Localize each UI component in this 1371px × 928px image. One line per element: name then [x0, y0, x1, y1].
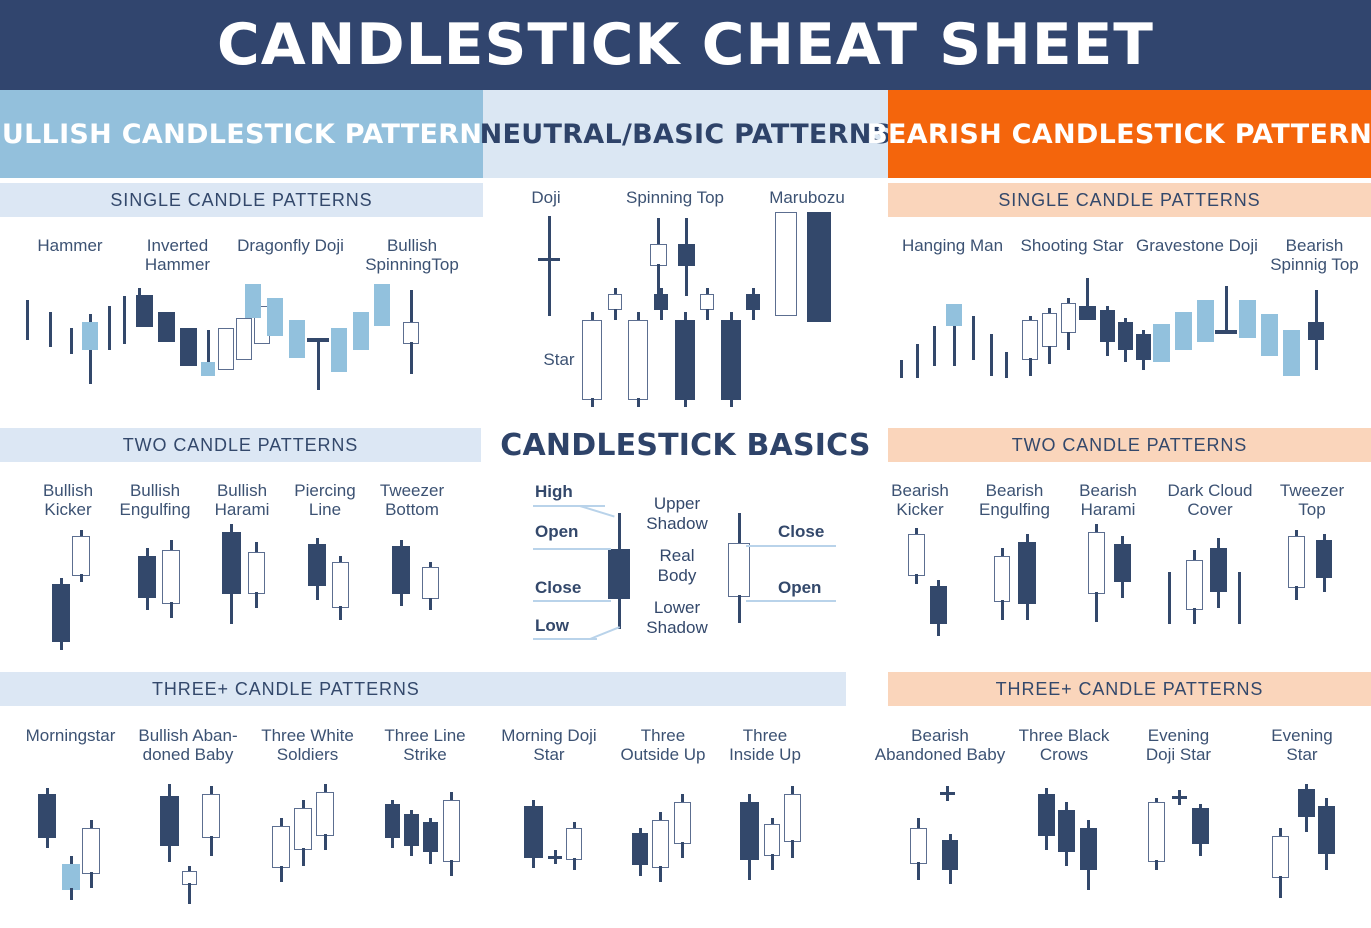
- candle-chart-bearish-spinnig-top: [1308, 290, 1328, 380]
- column-header-bearish-label: BEARISH CANDLESTICK PATTERNS: [867, 119, 1371, 150]
- pattern-label-bullish-kicker: Bullish Kicker: [18, 481, 118, 519]
- pattern-label-star: Star: [528, 350, 590, 369]
- section-band-bullish-single: SINGLE CANDLE PATTERNS: [0, 183, 483, 217]
- basics-rule-open-left: [533, 548, 611, 550]
- candle-chart-bearish-abandoned-baby: [910, 786, 980, 886]
- pattern-label-bullish-spinning-top: Bullish SpinningTop: [352, 236, 472, 274]
- candle-chart-morning-doji-star: [524, 800, 584, 880]
- basics-label-low: Low: [535, 616, 569, 636]
- candle-chart-three-inside-up: [740, 786, 802, 886]
- candle-chart-marubozu: [775, 212, 837, 322]
- basics-rule-low: [533, 638, 597, 640]
- candle-chart-inverted-hammer: [132, 290, 242, 390]
- candle-chart-three-outside-up: [632, 792, 694, 884]
- candle-chart-bullish-abandoned-baby: [160, 784, 222, 904]
- basics-rule-close-right: [746, 545, 836, 547]
- candle-chart-hammer: [22, 290, 132, 390]
- basics-label-high: High: [535, 482, 573, 502]
- pattern-label-bullish-abandoned-baby: Bullish Aban- doned Baby: [128, 726, 248, 764]
- pattern-label-marubozu: Marubozu: [755, 188, 859, 207]
- pattern-label-inverted-hammer: Inverted Hammer: [120, 236, 235, 274]
- candle-chart-doji: [538, 216, 560, 316]
- section-band-label: THREE+ CANDLE PATTERNS: [996, 679, 1264, 700]
- pattern-label-bullish-engulfing: Bullish Engulfing: [105, 481, 205, 519]
- pattern-label-dragonfly-doji: Dragonfly Doji: [228, 236, 353, 255]
- candle-chart-bearish-kicker: [908, 528, 958, 638]
- column-header-bullish-label: BULLISH CANDLESTICK PATTERNS: [0, 119, 502, 150]
- basics-rule-high: [533, 505, 605, 507]
- candle-chart-piercing-line: [308, 530, 360, 640]
- pattern-label-piercing-line: Piercing Line: [275, 481, 375, 519]
- pattern-label-shooting-star: Shooting Star: [1013, 236, 1131, 255]
- basics-candle-bearish: [608, 513, 630, 629]
- basics-label-close-right: Close: [778, 522, 824, 542]
- section-band-bearish-three: THREE+ CANDLE PATTERNS: [888, 672, 1371, 706]
- basics-rule-close-left: [533, 600, 611, 602]
- pattern-label-evening-doji-star: Evening Doji Star: [1126, 726, 1231, 764]
- section-band-label: THREE+ CANDLE PATTERNS: [152, 679, 420, 700]
- candle-chart-morningstar: [38, 788, 98, 898]
- basics-label-open-right: Open: [778, 578, 821, 598]
- basics-label-real-body: Real Body: [637, 546, 717, 586]
- section-band-bearish-two: TWO CANDLE PATTERNS: [888, 428, 1371, 462]
- section-band-label: TWO CANDLE PATTERNS: [123, 435, 358, 456]
- section-band-label: SINGLE CANDLE PATTERNS: [998, 190, 1260, 211]
- pattern-label-three-line-strike: Three Line Strike: [370, 726, 480, 764]
- column-header-bearish: BEARISH CANDLESTICK PATTERNS: [888, 90, 1371, 178]
- pattern-label-dark-cloud-cover: Dark Cloud Cover: [1156, 481, 1264, 519]
- pattern-label-bearish-kicker: Bearish Kicker: [870, 481, 970, 519]
- candle-chart-hanging-man: [900, 290, 1008, 390]
- section-band-bearish-single: SINGLE CANDLE PATTERNS: [888, 183, 1371, 217]
- pattern-label-evening-star: Evening Star: [1252, 726, 1352, 764]
- pattern-label-bearish-spinnig-top: Bearish Spinnig Top: [1262, 236, 1367, 274]
- section-band-label: TWO CANDLE PATTERNS: [1012, 435, 1247, 456]
- pattern-label-tweezer-bottom: Tweezer Bottom: [362, 481, 462, 519]
- candle-chart-bullish-spinning-top: [403, 290, 423, 380]
- candle-chart-bullish-kicker: [52, 530, 102, 640]
- basics-label-lower-shadow: Lower Shadow: [635, 598, 719, 638]
- pattern-label-three-black-crows: Three Black Crows: [1010, 726, 1118, 764]
- candle-chart-three-line-strike: [385, 790, 465, 890]
- basics-label-open-left: Open: [535, 522, 578, 542]
- candle-chart-three-black-crows: [1038, 788, 1100, 896]
- section-band-bullish-two: TWO CANDLE PATTERNS: [0, 428, 481, 462]
- candle-chart-dark-cloud-cover: [1168, 530, 1258, 636]
- pattern-label-hanging-man: Hanging Man: [895, 236, 1010, 255]
- candle-chart-bearish-harami: [1088, 524, 1140, 640]
- pattern-label-bearish-harami: Bearish Harami: [1058, 481, 1158, 519]
- pattern-label-three-white-soldiers: Three White Soldiers: [250, 726, 365, 764]
- candle-chart-shooting-star: [1022, 278, 1134, 388]
- pattern-label-three-inside-up: Three Inside Up: [715, 726, 815, 764]
- pattern-label-bearish-abandoned-baby: Bearish Abandoned Baby: [872, 726, 1008, 764]
- candle-chart-tweezer-bottom: [392, 540, 444, 640]
- column-header-neutral-label: NEUTRAL/BASIC PATTERNS: [480, 119, 892, 150]
- basics-heading: CANDLESTICK BASICS: [483, 428, 888, 463]
- pattern-label-three-outside-up: Three Outside Up: [608, 726, 718, 764]
- basics-label-close-left: Close: [535, 578, 581, 598]
- candle-chart-tweezer-top: [1288, 530, 1340, 630]
- title-bar: CANDLESTICK CHEAT SHEET: [0, 0, 1371, 90]
- column-header-neutral: NEUTRAL/BASIC PATTERNS: [483, 90, 888, 178]
- candle-chart-star: [582, 288, 762, 410]
- candle-chart-evening-star: [1272, 784, 1334, 896]
- section-band-bullish-three: THREE+ CANDLE PATTERNS: [0, 672, 846, 706]
- basics-leader-low: [590, 626, 620, 640]
- pattern-label-gravestone-doji: Gravestone Doji: [1133, 236, 1261, 255]
- basics-label-upper-shadow: Upper Shadow: [635, 494, 719, 534]
- column-header-bullish: BULLISH CANDLESTICK PATTERNS: [0, 90, 483, 178]
- section-band-label: SINGLE CANDLE PATTERNS: [110, 190, 372, 211]
- basics-rule-open-right: [746, 600, 836, 602]
- pattern-label-spinning-top: Spinning Top: [610, 188, 740, 207]
- pattern-label-doji: Doji: [510, 188, 582, 207]
- candle-chart-bullish-engulfing: [138, 530, 190, 640]
- pattern-label-tweezer-top: Tweezer Top: [1262, 481, 1362, 519]
- candle-chart-evening-doji-star: [1148, 790, 1226, 882]
- basics-candle-bullish: [728, 513, 750, 623]
- pattern-label-bearish-engulfing: Bearish Engulfing: [962, 481, 1067, 519]
- candle-chart-bearish-engulfing: [994, 528, 1046, 638]
- pattern-label-hammer: Hammer: [10, 236, 130, 255]
- candle-chart-three-white-soldiers: [272, 782, 336, 892]
- candle-chart-gravestone-doji: [1153, 286, 1265, 396]
- candle-chart-dragonfly-doji: [245, 282, 365, 392]
- page-title: CANDLESTICK CHEAT SHEET: [0, 10, 1371, 80]
- pattern-label-morning-doji-star: Morning Doji Star: [490, 726, 608, 764]
- candle-chart-bullish-harami: [222, 524, 274, 644]
- pattern-label-morningstar: Morningstar: [8, 726, 133, 745]
